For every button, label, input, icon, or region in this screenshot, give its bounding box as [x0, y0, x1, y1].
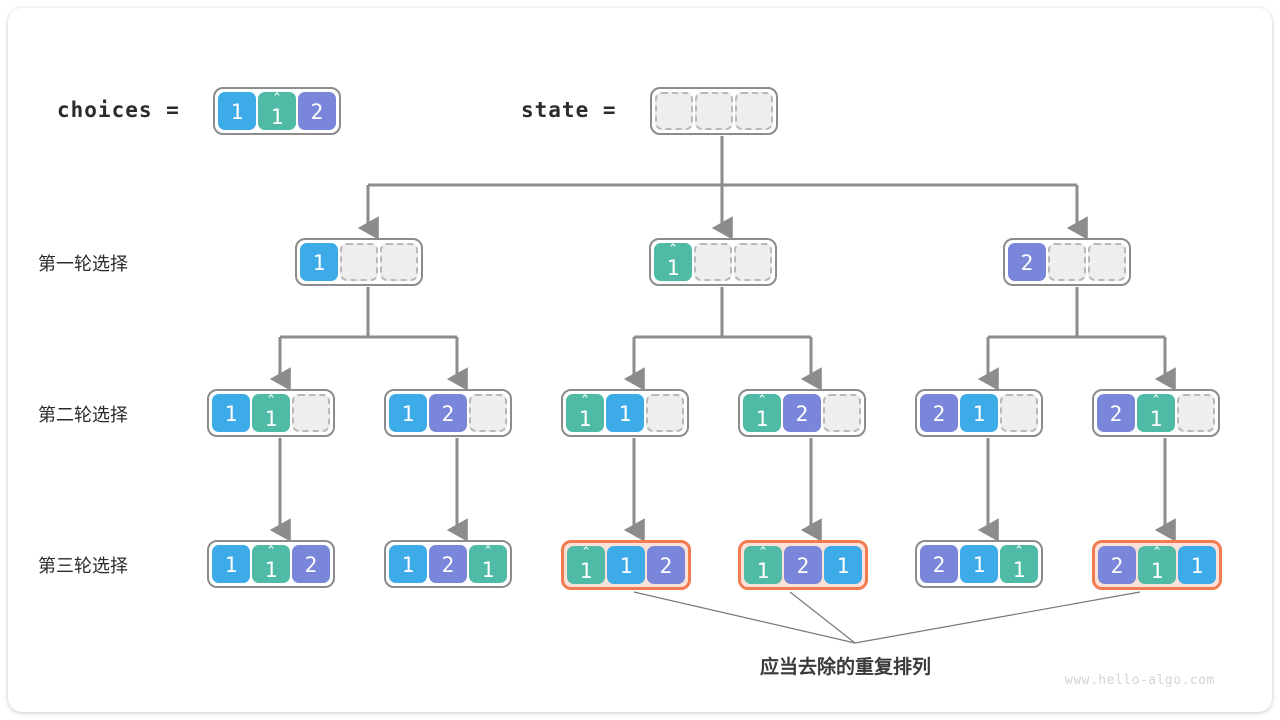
array-cell: [695, 92, 733, 130]
array-cell-value: 2: [660, 556, 673, 577]
array-cell: 1: [389, 394, 427, 432]
array-cell-value: 1: [619, 404, 632, 425]
array-cell: 2: [1008, 243, 1046, 281]
array-cell-value: 2: [442, 404, 455, 425]
array-cell-value: 1: [402, 555, 415, 576]
node-n-1h-1: ˆ11: [561, 389, 689, 437]
array-cell-value: 2: [442, 555, 455, 576]
array-cell: 2: [429, 545, 467, 583]
array-cell: ˆ1: [1000, 545, 1038, 583]
array-cell-value: 1: [225, 404, 238, 425]
array-cell-value: 2: [1110, 404, 1123, 425]
array-cell-value: 1: [1191, 556, 1204, 577]
array-cell-value: 2: [305, 555, 318, 576]
array-cell: 2: [647, 546, 685, 584]
node-n-1-2: 12: [384, 389, 512, 437]
node-n-1-1h: 1ˆ1: [207, 389, 335, 437]
array-cell-value: 2: [1021, 253, 1034, 274]
array-cell: ˆ1: [654, 243, 692, 281]
array-cell: 1: [824, 546, 862, 584]
array-cell: 1: [212, 394, 250, 432]
array-cell: [823, 394, 861, 432]
array-cell-value: 1: [667, 258, 680, 279]
array-cell-value: 1: [579, 409, 592, 430]
array-cell: 1: [606, 394, 644, 432]
array-cell: 1: [607, 546, 645, 584]
array-cell: ˆ1: [567, 546, 605, 584]
node-n-2-1: 21: [915, 389, 1043, 437]
array-cell: ˆ1: [744, 546, 782, 584]
row-label-first-round: 第一轮选择: [38, 250, 128, 276]
array-cell-value: 1: [482, 560, 495, 581]
array-cell-value: 2: [933, 555, 946, 576]
array-cell: ˆ1: [258, 92, 296, 130]
state-array: [650, 87, 778, 135]
node-n-1: 1: [295, 238, 423, 286]
array-cell: 1: [218, 92, 256, 130]
array-cell: 1: [960, 545, 998, 583]
array-cell: ˆ1: [1137, 394, 1175, 432]
node-n-1-2-1h: 12ˆ1: [384, 540, 512, 588]
state-label: state =: [521, 98, 617, 122]
array-cell: 1: [960, 394, 998, 432]
array-cell-value: 1: [756, 409, 769, 430]
array-cell: [1048, 243, 1086, 281]
array-cell: ˆ1: [469, 545, 507, 583]
array-cell: [735, 92, 773, 130]
array-cell-value: 1: [973, 555, 986, 576]
array-cell: [380, 243, 418, 281]
array-cell: [292, 394, 330, 432]
array-cell-value: 2: [1111, 556, 1124, 577]
array-cell: 2: [292, 545, 330, 583]
array-cell-value: 1: [837, 556, 850, 577]
array-cell: 2: [1097, 394, 1135, 432]
array-cell: 2: [920, 394, 958, 432]
diagram-card: [8, 8, 1272, 712]
choices-array: 1ˆ12: [213, 87, 341, 135]
node-n-1h-2-1: ˆ121: [738, 540, 868, 590]
array-cell: [1000, 394, 1038, 432]
array-cell-value: 1: [580, 561, 593, 582]
array-cell: 1: [212, 545, 250, 583]
row-label-third-round: 第三轮选择: [38, 552, 128, 578]
array-cell: ˆ1: [252, 545, 290, 583]
duplicate-caption: 应当去除的重复排列: [760, 652, 931, 679]
array-cell: [646, 394, 684, 432]
array-cell: [340, 243, 378, 281]
array-cell-value: 2: [796, 404, 809, 425]
array-cell: 1: [389, 545, 427, 583]
array-cell-value: 2: [933, 404, 946, 425]
array-cell: 2: [783, 394, 821, 432]
array-cell-value: 1: [265, 409, 278, 430]
array-cell-value: 1: [620, 556, 633, 577]
array-cell-value: 1: [313, 253, 326, 274]
node-n-2: 2: [1003, 238, 1131, 286]
array-cell: 2: [429, 394, 467, 432]
array-cell: [469, 394, 507, 432]
node-n-1h: ˆ1: [649, 238, 777, 286]
diagram-canvas: choices = state = 第一轮选择 第二轮选择 第三轮选择 应当去除…: [0, 0, 1280, 720]
array-cell: ˆ1: [252, 394, 290, 432]
row-label-second-round: 第二轮选择: [38, 401, 128, 427]
array-cell: 2: [298, 92, 336, 130]
array-cell-value: 1: [973, 404, 986, 425]
array-cell: 1: [300, 243, 338, 281]
array-cell-value: 1: [1151, 561, 1164, 582]
array-cell: 2: [784, 546, 822, 584]
array-cell-value: 2: [311, 102, 324, 123]
array-cell-value: 1: [231, 102, 244, 123]
array-cell-value: 1: [225, 555, 238, 576]
array-cell-value: 1: [402, 404, 415, 425]
array-cell-value: 1: [1150, 409, 1163, 430]
node-n-2-1-1h: 21ˆ1: [915, 540, 1043, 588]
array-cell: [694, 243, 732, 281]
array-cell: [1177, 394, 1215, 432]
array-cell: [1088, 243, 1126, 281]
node-n-1-1h-2: 1ˆ12: [207, 540, 335, 588]
array-cell-value: 2: [797, 556, 810, 577]
node-n-1h-2: ˆ12: [738, 389, 866, 437]
array-cell: ˆ1: [1138, 546, 1176, 584]
array-cell-value: 1: [757, 561, 770, 582]
node-n-2-1h: 2ˆ1: [1092, 389, 1220, 437]
choices-label: choices =: [57, 98, 180, 122]
array-cell: [655, 92, 693, 130]
watermark: www.hello-algo.com: [1065, 673, 1215, 688]
array-cell: 2: [1098, 546, 1136, 584]
array-cell-value: 1: [271, 107, 284, 128]
array-cell: 2: [920, 545, 958, 583]
array-cell: [734, 243, 772, 281]
node-n-2-1h-1: 2ˆ11: [1092, 540, 1222, 590]
array-cell-value: 1: [1013, 560, 1026, 581]
array-cell: ˆ1: [566, 394, 604, 432]
array-cell: 1: [1178, 546, 1216, 584]
array-cell: ˆ1: [743, 394, 781, 432]
array-cell-value: 1: [265, 560, 278, 581]
node-n-1h-1-2: ˆ112: [561, 540, 691, 590]
